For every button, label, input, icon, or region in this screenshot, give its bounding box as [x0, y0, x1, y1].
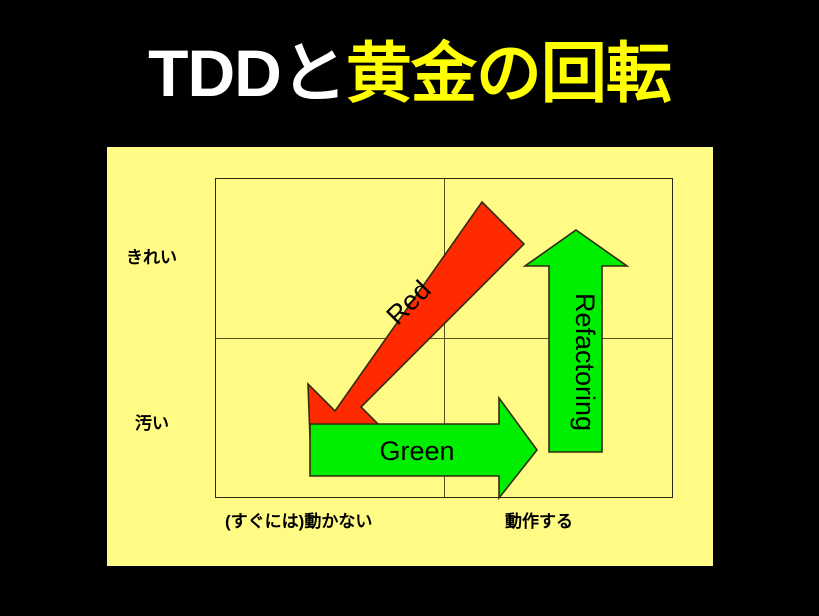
- quadrant-grid: [215, 178, 673, 498]
- x-axis-label-not-working: (すぐには)動かない: [225, 507, 372, 532]
- page-title: TDDと黄金の回転: [0, 36, 819, 110]
- title-white-segment: TDDと: [148, 36, 346, 110]
- slide-canvas: TDDと黄金の回転 きれい 汚い (すぐには)動かない 動作する Red Gre…: [0, 0, 819, 616]
- y-axis-label-dirty: 汚い: [135, 409, 169, 434]
- y-axis-label-clean: きれい: [126, 243, 177, 268]
- x-axis-label-working: 動作する: [505, 507, 573, 532]
- grid-horizontal-divider: [216, 338, 672, 339]
- diagram-panel: きれい 汚い (すぐには)動かない 動作する Red Green Refa: [107, 147, 713, 566]
- title-yellow-segment: 黄金の回転: [346, 36, 671, 110]
